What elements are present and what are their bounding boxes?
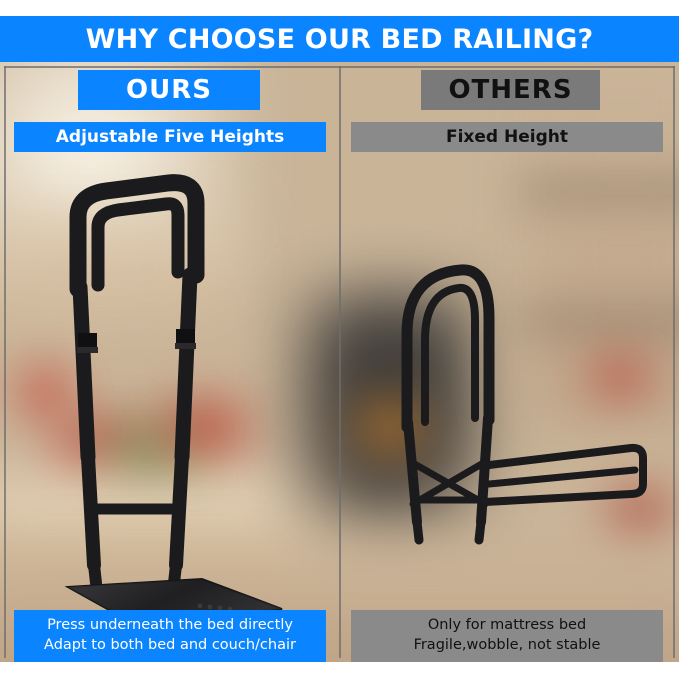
ours-pill-label: OURS xyxy=(126,75,212,105)
others-feature-bar: Fixed Height xyxy=(351,122,663,152)
ours-caption-bar: Press underneath the bed directly Adapt … xyxy=(14,610,326,662)
others-caption-bar: Only for mattress bed Fragile,wobble, no… xyxy=(351,610,663,662)
comparison-photo: OURS OTHERS Adjustable Five Heights Fixe… xyxy=(0,62,679,662)
others-caption-line-2: Fragile,wobble, not stable xyxy=(414,636,601,656)
others-caption-line-1: Only for mattress bed xyxy=(428,616,586,636)
ours-bed-rail-illustration xyxy=(50,157,310,637)
ours-caption-line-2: Adapt to both bed and couch/chair xyxy=(44,636,296,656)
others-column-pill: OTHERS xyxy=(421,70,600,110)
shelf-dark-line-1-blob xyxy=(520,182,679,200)
comparison-infographic: WHY CHOOSE OUR BED RAILING? xyxy=(0,0,679,679)
page-title: WHY CHOOSE OUR BED RAILING? xyxy=(86,24,594,55)
others-bed-rail-illustration xyxy=(385,222,655,642)
ours-feature-bar: Adjustable Five Heights xyxy=(14,122,326,152)
column-divider xyxy=(339,66,341,658)
ours-column-pill: OURS xyxy=(78,70,260,110)
others-feature-label: Fixed Height xyxy=(446,127,568,147)
header-banner: WHY CHOOSE OUR BED RAILING? xyxy=(0,16,679,62)
frame-left-line xyxy=(4,66,6,658)
others-pill-label: OTHERS xyxy=(448,75,572,105)
frame-right-line xyxy=(673,66,675,658)
ours-feature-label: Adjustable Five Heights xyxy=(56,127,285,147)
ours-caption-line-1: Press underneath the bed directly xyxy=(47,616,293,636)
